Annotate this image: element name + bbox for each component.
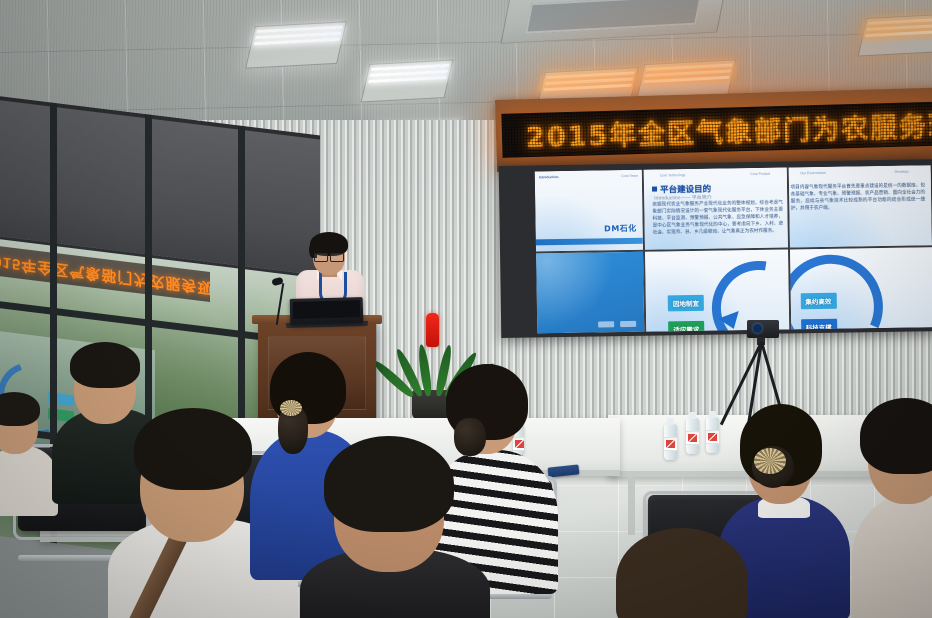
led-banner-screen: 2015年全区气象部门为农服务现场推进会 [501,102,932,158]
slide-tab-core-team[interactable]: Core Team [621,174,638,178]
video-wall-panel-bottom-right: 集约高效 科技支撑 [790,247,932,329]
laptop[interactable] [290,297,364,325]
attendee-hair [70,342,140,388]
slide-body-paragraph-2: 项目内容气象现代服务平台首先要重点建设的是统一的数据库，包含基础气象、专业气象、… [791,183,926,213]
table-leg [628,477,635,535]
slide-key-box-1: 因地制宜 [668,295,704,312]
slide-tabs-middle: Core Technology Core Product [644,167,787,181]
attendee-hair [860,398,932,474]
glasses-icon [313,253,345,260]
slide-arrow-graphic-right [790,247,932,329]
slide-tab-core-product[interactable]: Core Product [750,172,770,176]
attendee-hair [324,436,454,532]
slide-logo: DM石化 [604,223,637,235]
led-banner-text: 2015年全区气象部门为农服务现场推进会 [525,102,932,155]
attendee-bottom-center [616,528,748,618]
slide-nav-next-button[interactable] [620,321,636,327]
video-wall-bezel: Introduction Core Team DM石化 Core Technol… [499,159,932,338]
slide-key-box-3: 适应需求 [668,321,704,332]
hair-scrunchie [754,448,786,474]
attendee-far-left [0,392,58,512]
water-bottle[interactable] [664,424,677,460]
conference-room-photo: 2015年全区气象部门为农服务现场推进会 2015年全区气象部门为农服务现场推进… [0,0,932,618]
bottle-label [664,437,677,451]
attendee-far-right [862,398,932,618]
slide-tab-core-technology[interactable]: Core Technology [660,173,685,177]
slide-tabs-left: Introduction Core Team [535,170,642,184]
attendee-hair [616,528,748,618]
video-wall-panel-top-middle: Core Technology Core Product 平台建设目的 Intr… [644,167,788,249]
attendee-hair [0,392,40,426]
slide-key-box-4: 科技支撑 [801,319,837,330]
video-wall-panel-bottom-left [536,252,644,334]
slide-tabs-right: Our Environment Develops [788,165,931,179]
slide-tab-our-environment[interactable]: Our Environment [800,171,826,175]
attendee-torso [852,494,932,618]
light-panel-1 [245,21,347,68]
circular-arrow-icon-right [790,247,899,329]
attendee-hair [134,408,252,490]
attendee-center-dark-hair [300,436,490,618]
hair-scrunchie [280,400,302,416]
video-wall-panel-top-right: Our Environment Develops 项目内容气象现代服务平台首先要… [788,165,932,247]
slide-tab-introduction[interactable]: Introduction [539,175,559,179]
water-bottle[interactable] [686,418,699,454]
video-camera-icon [747,320,779,338]
video-wall-panel-top-left: Introduction Core Team DM石化 [535,170,643,252]
video-wall-display[interactable]: Introduction Core Team DM石化 Core Technol… [535,165,932,333]
bottle-label [686,431,699,445]
slide-tab-develops[interactable]: Develops [895,170,909,174]
slide-body-paragraph-1: 依据现代农业气象服务产业现代化业务的整体规划，综合考虑气象部门实际情况设计的一套… [652,201,783,237]
slide-key-box-2: 集约高效 [800,293,836,310]
slide-subtitle: Introduction—— 平台简介 [654,194,712,202]
attendee-torso [0,446,58,516]
slide-title-bullet-icon [652,187,657,192]
plant-red-flower [426,313,439,347]
slide-nav-prev-button[interactable] [598,321,614,327]
